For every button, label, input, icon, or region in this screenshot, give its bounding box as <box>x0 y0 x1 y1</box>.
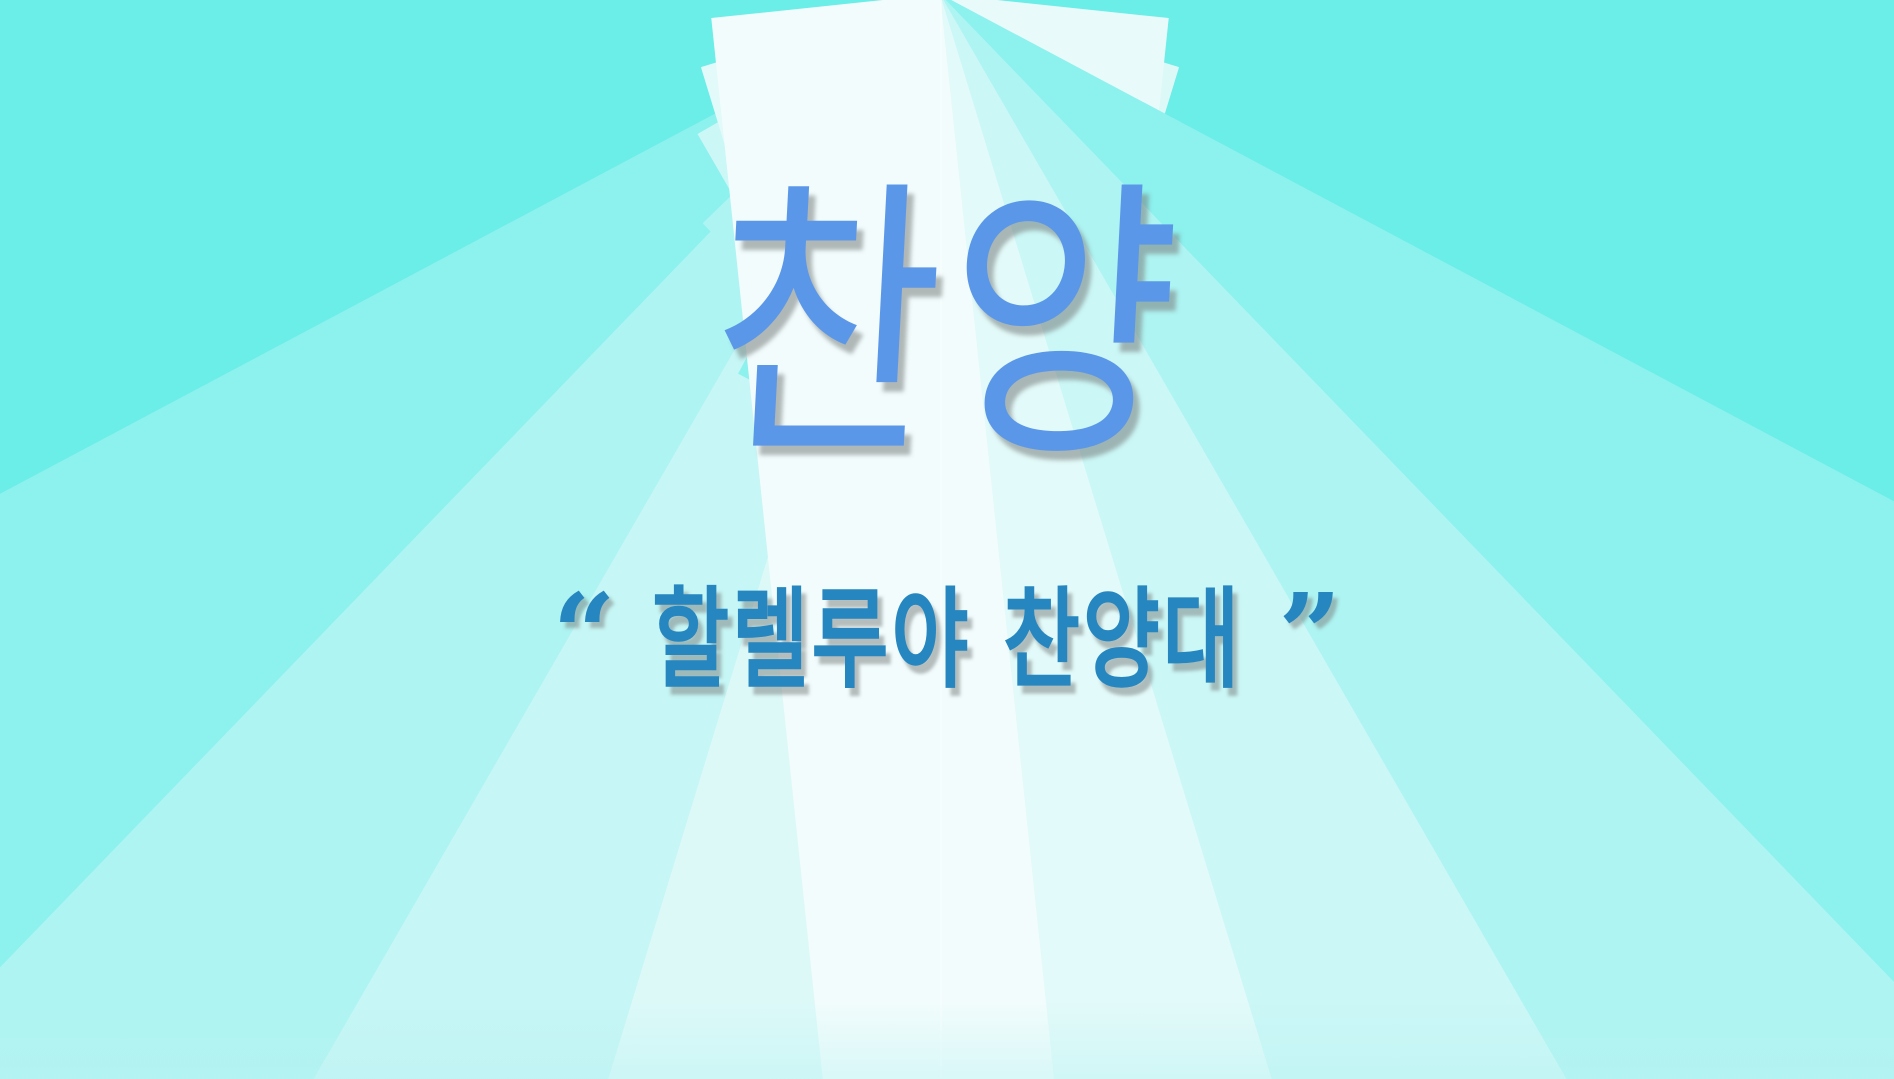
slide-canvas: 찬양 “ 할렐루야 찬양대 ” <box>0 0 1894 1079</box>
page-title: 찬양 <box>0 172 1894 482</box>
opening-quote-mark: “ <box>553 579 616 689</box>
closing-quote-mark: ” <box>1278 579 1341 689</box>
subtitle-text: 할렐루야 찬양대 <box>652 585 1242 694</box>
subtitle-group: “ 할렐루야 찬양대 ” <box>0 585 1894 695</box>
slide-content: 찬양 “ 할렐루야 찬양대 ” <box>0 0 1894 1079</box>
